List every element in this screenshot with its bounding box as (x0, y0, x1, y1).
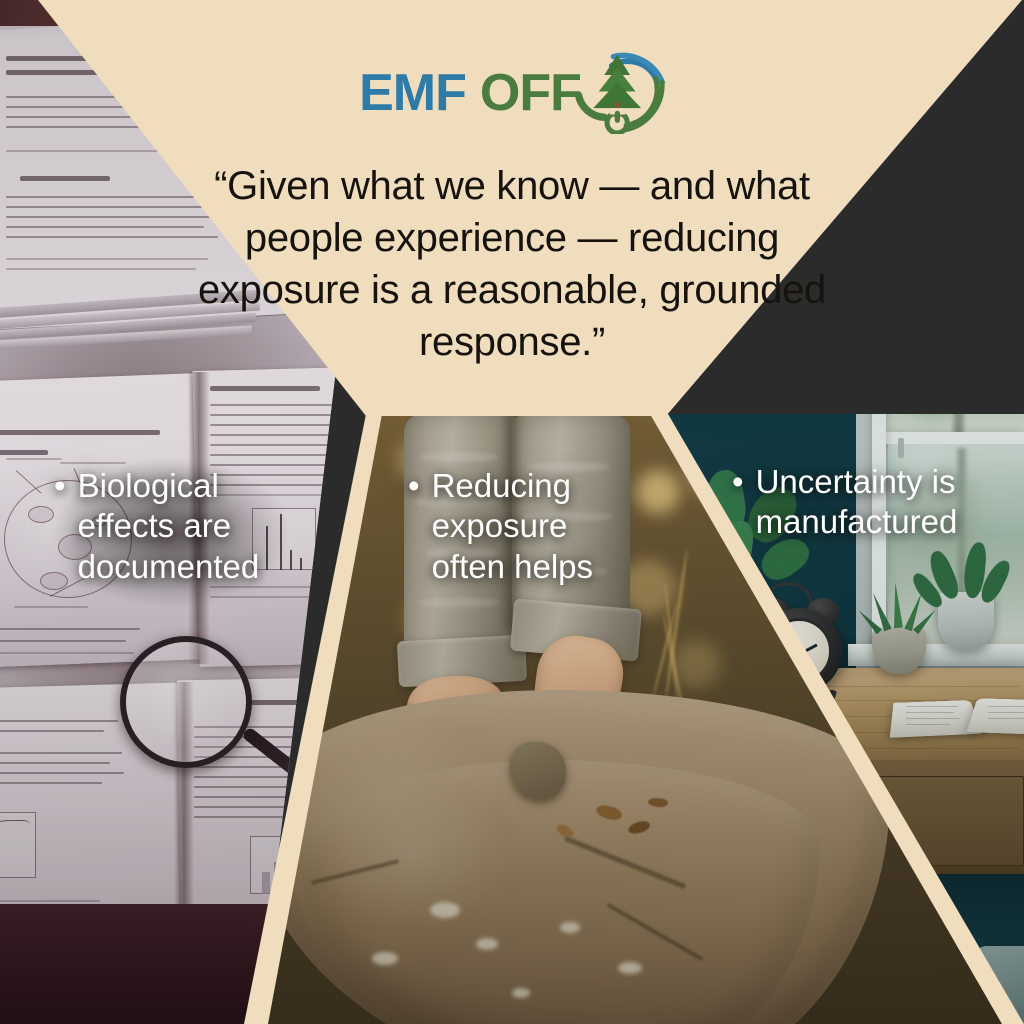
logo-text-emf: EMF (359, 67, 466, 119)
magnifier-icon (120, 636, 252, 768)
infographic-canvas: EMF OFF “Give (0, 0, 1024, 1024)
caption-reducing-exposure: • Reducing exposure often helps (408, 466, 633, 587)
quote-text: “Given what we know — and what people ex… (186, 160, 838, 368)
pine-tree-wifi-power-icon (573, 38, 665, 134)
caption-uncertainty: • Uncertainty is manufactured (732, 462, 1000, 543)
bullet-icon: • (408, 466, 420, 506)
brand-logo[interactable]: EMF OFF (0, 52, 1024, 134)
logo-text-off: OFF (480, 67, 581, 119)
bullet-icon: • (54, 466, 66, 506)
caption-text: Uncertainty is manufactured (756, 462, 1000, 543)
caption-biological-effects: • Biological effects are documented (54, 466, 304, 587)
caption-text: Biological effects are documented (78, 466, 304, 587)
caption-text: Reducing exposure often helps (432, 466, 633, 587)
bullet-icon: • (732, 462, 744, 502)
